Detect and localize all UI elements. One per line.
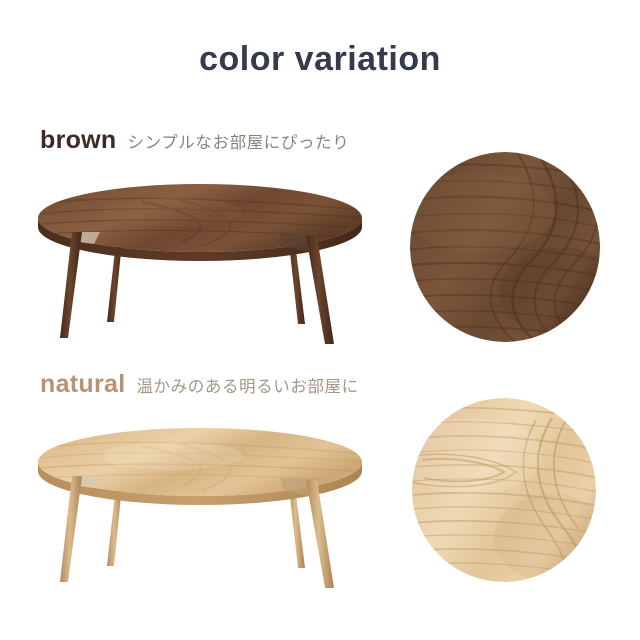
- swatch-natural: [412, 398, 596, 582]
- variation-brown-label-row: brown シンプルなお部屋にぴったり: [40, 128, 349, 153]
- variation-natural-description: 温かみのある明るいお部屋に: [136, 379, 358, 396]
- product-photo-brown: [22, 172, 388, 347]
- natural-wood-swatch-texture: [412, 398, 596, 582]
- variation-brown-description: シンプルなお部屋にぴったり: [128, 135, 350, 152]
- variation-natural-label-row: natural 温かみのある明るいお部屋に: [40, 372, 359, 397]
- brown-table-leg-front-right: [306, 236, 334, 344]
- natural-table-leg-front-right: [306, 480, 334, 588]
- natural-table-illustration: [22, 416, 388, 591]
- natural-table-top-highlight: [102, 442, 242, 470]
- brown-table-leg-front-left: [60, 232, 82, 338]
- brown-table-illustration: [22, 172, 388, 347]
- product-photo-natural: [22, 416, 388, 591]
- swatch-brown: [410, 152, 600, 342]
- variation-natural-name: natural: [40, 372, 125, 397]
- page-title: color variation: [0, 42, 640, 76]
- brown-table-top-highlight: [102, 198, 242, 226]
- color-variation-page: color variation brown シンプルなお部屋にぴったり: [0, 0, 640, 640]
- brown-wood-swatch-texture: [410, 152, 600, 342]
- variation-brown-name: brown: [40, 128, 117, 153]
- natural-table-leg-front-left: [60, 476, 82, 582]
